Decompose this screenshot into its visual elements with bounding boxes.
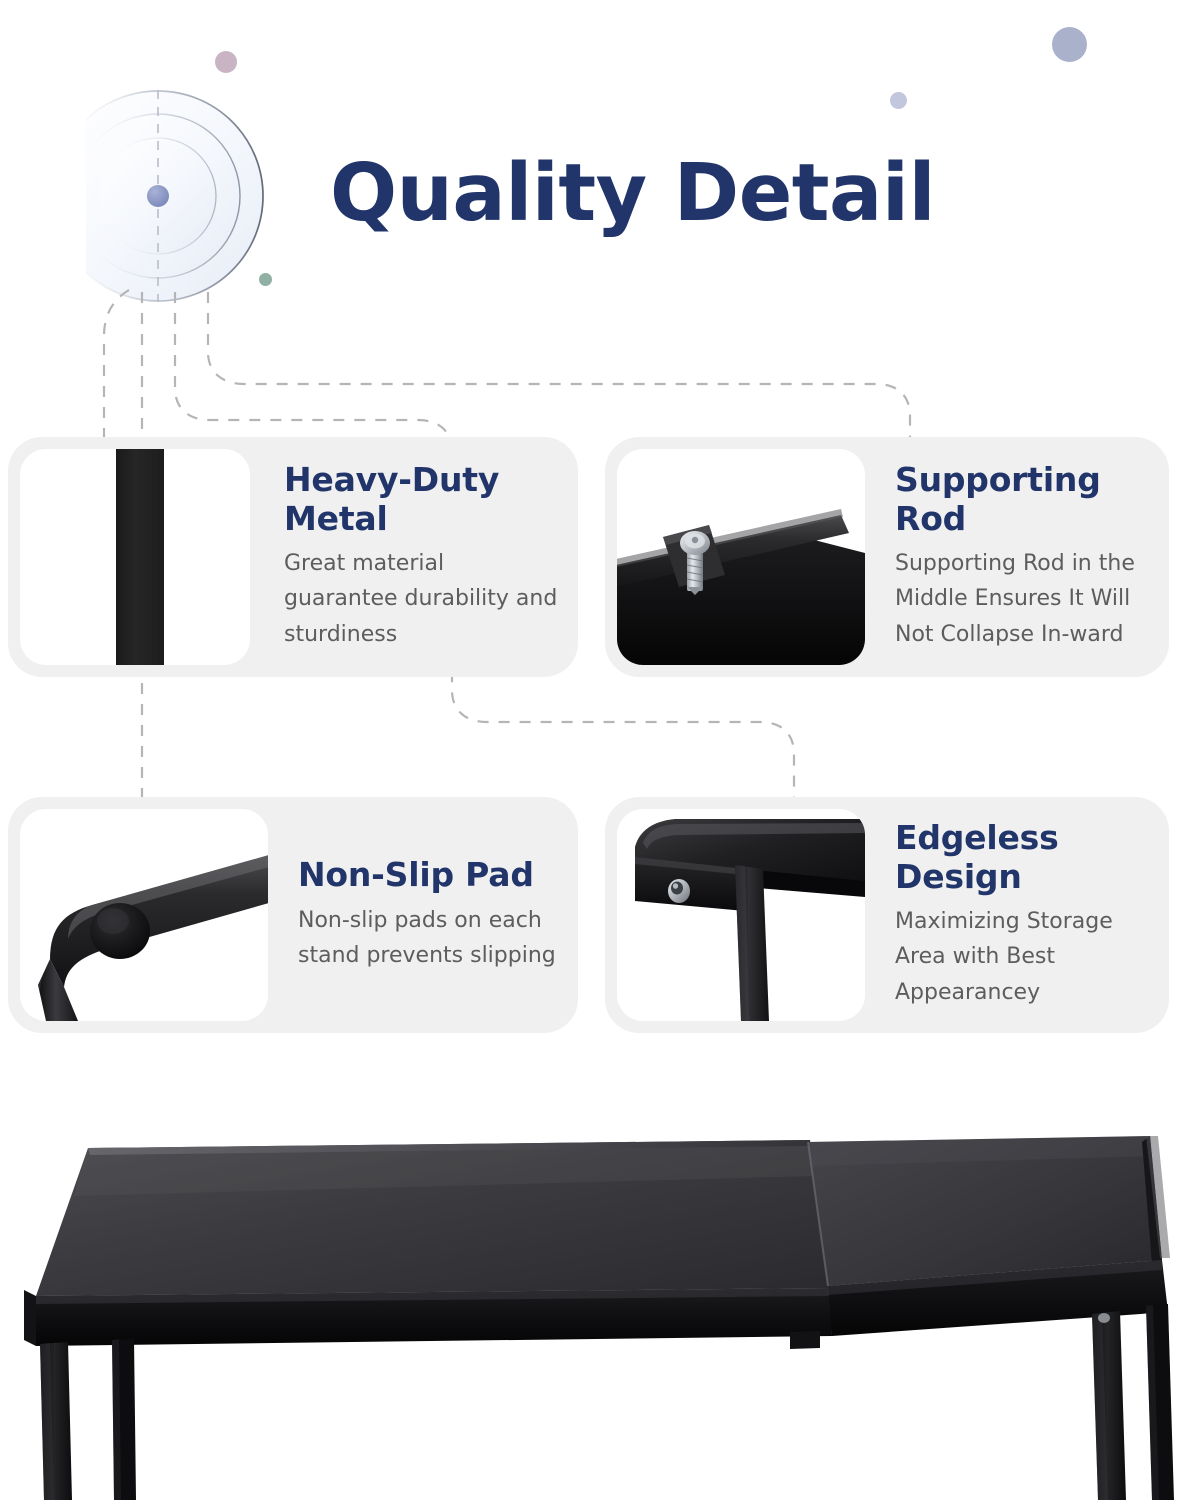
radar-target-emblem bbox=[86, 84, 316, 314]
feature-card-non-slip-pad[interactable]: Non-Slip Pad Non-slip pads on each stand… bbox=[8, 797, 578, 1033]
feature-card-supporting-rod[interactable]: Supporting Rod Supporting Rod in the Mid… bbox=[605, 437, 1169, 677]
edgeless-corner-photo bbox=[617, 809, 865, 1021]
deco-dot-lavender bbox=[890, 92, 907, 109]
feature-card-text: Edgeless Design Maximizing Storage Area … bbox=[877, 797, 1169, 1033]
feature-card-text: Non-Slip Pad Non-slip pads on each stand… bbox=[280, 797, 578, 1033]
feature-title: Edgeless Design bbox=[895, 819, 1153, 896]
deco-dot-blue-gray bbox=[1052, 27, 1087, 62]
metal-bar-photo bbox=[20, 449, 250, 665]
black-extendable-table-photo bbox=[0, 1100, 1177, 1500]
feature-description: Supporting Rod in the Middle Ensures It … bbox=[895, 546, 1153, 653]
feature-title: Non-Slip Pad bbox=[298, 856, 562, 894]
black-metal-bar-shape bbox=[116, 449, 164, 665]
feature-description: Maximizing Storage Area with Best Appear… bbox=[895, 904, 1153, 1011]
feature-title: Supporting Rod bbox=[895, 461, 1153, 538]
page-title: Quality Detail bbox=[330, 152, 1090, 236]
quality-detail-infographic: Quality Detail Heavy-Duty Metal Great ma… bbox=[0, 0, 1177, 1500]
feature-description: Great material guarantee durability and … bbox=[284, 546, 562, 653]
feature-card-heavy-duty-metal[interactable]: Heavy-Duty Metal Great material guarante… bbox=[8, 437, 578, 677]
feature-card-text: Heavy-Duty Metal Great material guarante… bbox=[262, 437, 578, 677]
non-slip-pad-photo bbox=[20, 809, 268, 1021]
feature-description: Non-slip pads on each stand prevents sli… bbox=[298, 903, 562, 974]
feature-card-text: Supporting Rod Supporting Rod in the Mid… bbox=[877, 437, 1169, 677]
feature-card-edgeless-design[interactable]: Edgeless Design Maximizing Storage Area … bbox=[605, 797, 1169, 1033]
feature-title: Heavy-Duty Metal bbox=[284, 461, 562, 538]
deco-dot-mauve bbox=[215, 51, 237, 73]
supporting-rod-photo bbox=[617, 449, 865, 665]
